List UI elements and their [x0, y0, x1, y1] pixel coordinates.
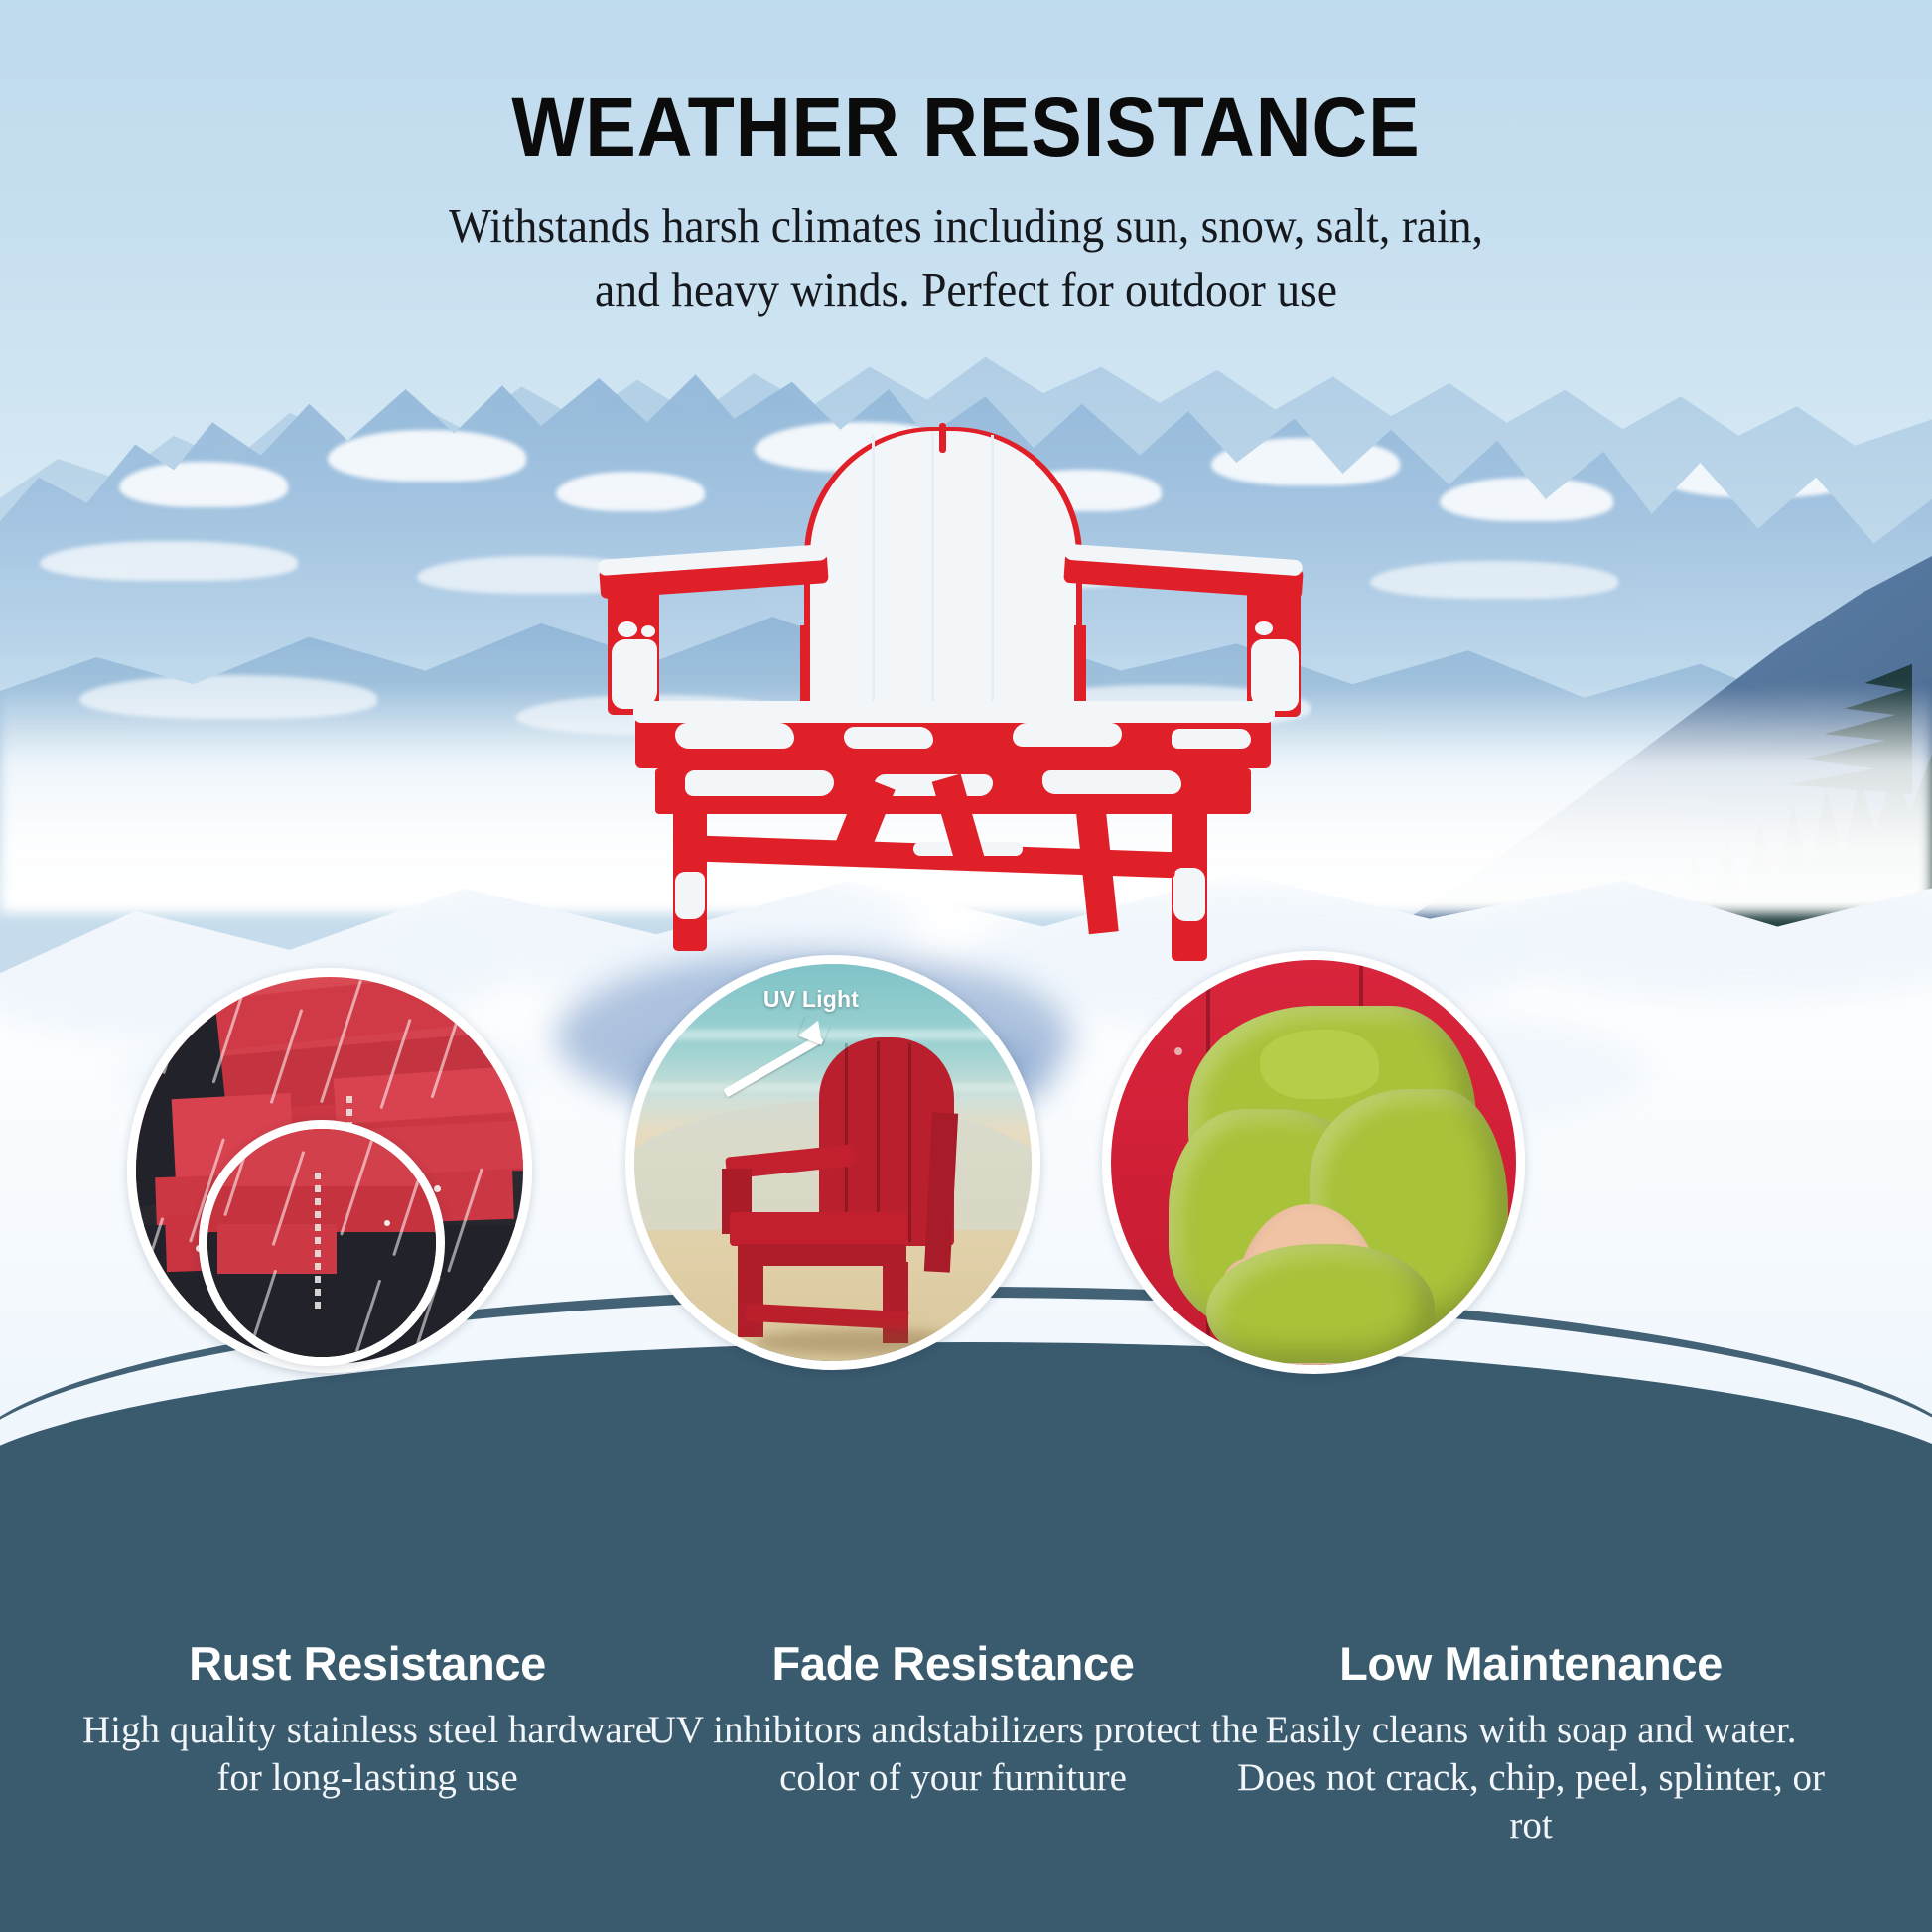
feature-body-fade-resistance: UV inhibitors andstabilizers protect the…: [645, 1707, 1261, 1802]
weather-resistance-infographic: UV Light: [0, 0, 1932, 1932]
feature-image-rust-resistance-inset: [199, 1120, 445, 1366]
uv-arrow-head: [798, 1016, 830, 1045]
feature-title-rust-resistance: Rust Resistance: [60, 1636, 675, 1691]
subtitle-line-1: Withstands harsh climates including sun,…: [68, 195, 1864, 258]
page-title: WEATHER RESISTANCE: [77, 79, 1855, 176]
subtitle-line-2: and heavy winds. Perfect for outdoor use: [68, 258, 1864, 322]
feature-body-rust-resistance: High quality stainless steel hardware fo…: [60, 1707, 675, 1802]
page-subtitle: Withstands harsh climates including sun,…: [68, 195, 1864, 322]
feature-title-low-maintenance: Low Maintenance: [1223, 1636, 1839, 1691]
feature-image-fade-resistance: UV Light: [625, 955, 1040, 1370]
uv-light-label: UV Light: [692, 986, 930, 1013]
feature-block-fade-resistance: Fade Resistance UV inhibitors andstabili…: [645, 1636, 1261, 1802]
feature-body-low-maintenance: Easily cleans with soap and water. Does …: [1223, 1707, 1839, 1850]
feature-block-low-maintenance: Low Maintenance Easily cleans with soap …: [1223, 1636, 1839, 1850]
feature-image-low-maintenance: [1102, 951, 1525, 1374]
feature-title-fade-resistance: Fade Resistance: [645, 1636, 1261, 1691]
feature-block-rust-resistance: Rust Resistance High quality stainless s…: [60, 1636, 675, 1802]
hero-snow-covered-chair: [616, 427, 1311, 1042]
